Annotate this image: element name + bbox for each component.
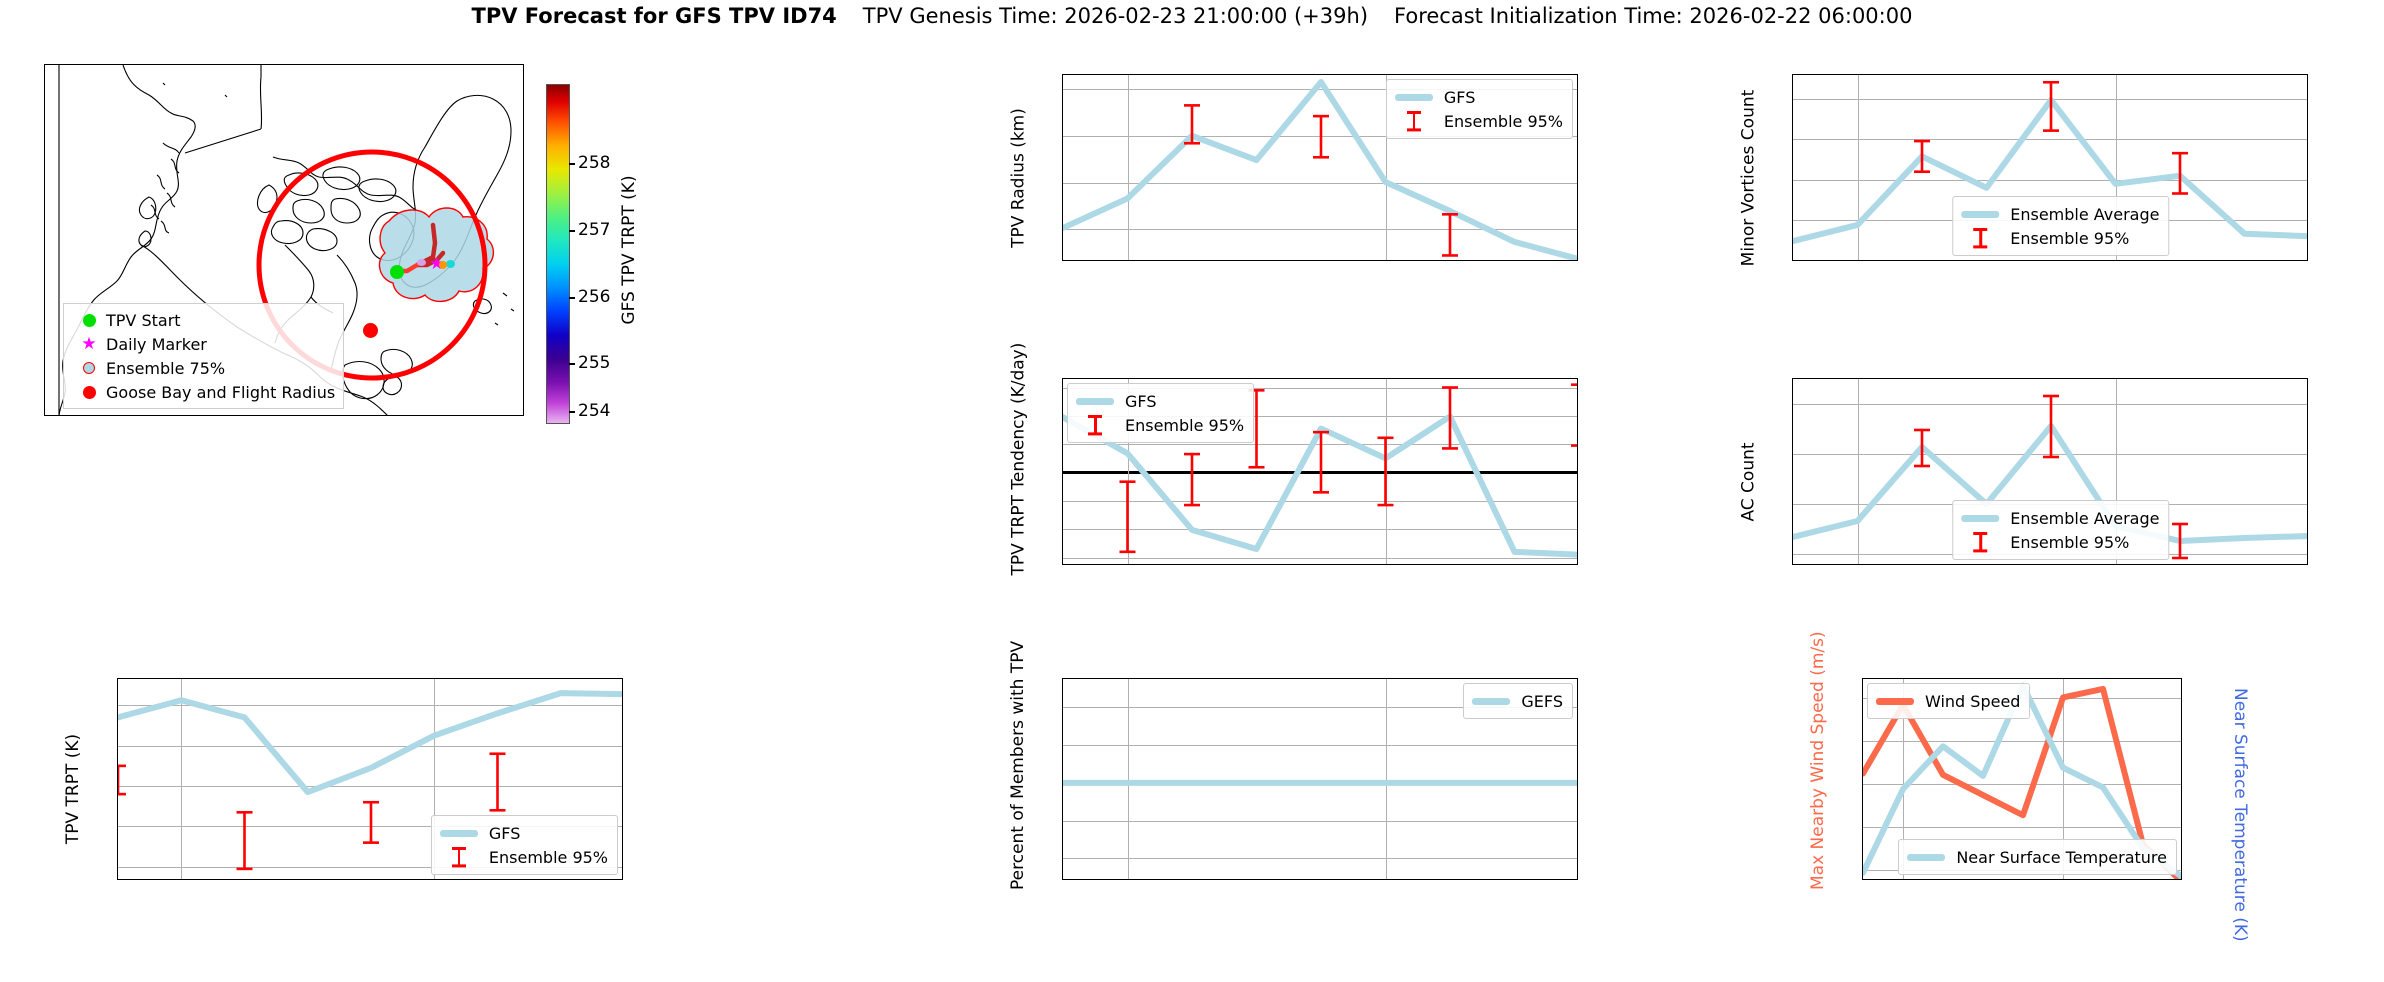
y-tick-label-right: 255 <box>2181 694 2182 714</box>
y-tickmark-right <box>2181 802 2182 804</box>
star-magenta-icon: ★ <box>72 336 106 353</box>
map-legend-label: Daily Marker <box>106 335 207 354</box>
plot-area[interactable]: 0.511.5202-23 21Z02-24 21ZEnsemble Avera… <box>1792 378 2308 565</box>
legend-item: Ensemble 95% <box>1960 226 2159 250</box>
legend-label: GFS <box>1125 392 1156 411</box>
marker-orange <box>439 261 447 269</box>
chart-legend[interactable]: Ensemble AverageEnsemble 95% <box>1952 500 2169 560</box>
chart-wind-temp: 151617181925025125225325425502-23 21Z02-… <box>1790 668 2260 928</box>
plot-area[interactable]: 00.511.5202-23 21Z02-24 21ZEnsemble Aver… <box>1792 74 2308 261</box>
legend-line-icon <box>1960 515 2000 522</box>
map-panel: ★ TPV Start ★ Daily Marker Ensemble 75% <box>44 64 524 416</box>
circle-open-lightblue-icon <box>72 362 106 374</box>
legend-item: GFS <box>1394 85 1563 109</box>
error-bar <box>1120 482 1136 552</box>
y-axis-label: TPV TRPT (K) <box>63 688 83 890</box>
y-tickmark-right <box>2181 868 2182 870</box>
legend-label: Ensemble 95% <box>2010 533 2129 552</box>
map-frame[interactable]: ★ TPV Start ★ Daily Marker Ensemble 75% <box>44 64 524 416</box>
error-bar <box>2043 396 2059 457</box>
error-bar <box>1571 385 1578 446</box>
legend-errorbar-icon <box>1075 415 1115 435</box>
error-bar <box>363 802 379 842</box>
legend-label: Ensemble 95% <box>1125 416 1244 435</box>
marker-goose-bay <box>363 323 378 338</box>
legend-item: Ensemble 95% <box>1075 413 1244 437</box>
chart-tpv-trpt-tendency: -6-4-2024602-23 21Z02-24 21ZGFSEnsemble … <box>1000 368 1590 613</box>
legend-line-icon <box>1960 211 2000 218</box>
chart-legend[interactable]: GFSEnsemble 95% <box>1067 383 1254 443</box>
chart-legend[interactable]: GEFS <box>1463 683 1573 719</box>
legend-line-icon <box>1875 698 1915 705</box>
error-bar <box>1184 454 1200 505</box>
map-legend-item-goose-bay: Goose Bay and Flight Radius <box>72 380 335 404</box>
map-legend-item-daily-marker: ★ Daily Marker <box>72 332 335 356</box>
colorbar-tick-256: 256 <box>569 287 610 307</box>
colorbar-tick-258: 258 <box>569 153 610 173</box>
y-axis-label: Minor Vortices Count <box>1738 84 1758 271</box>
series-line <box>118 693 623 792</box>
page-title: TPV Forecast for GFS TPV ID74TPV Genesis… <box>0 4 2384 28</box>
colorbar-label: GFS TPV TRPT (K) <box>619 170 639 330</box>
y-tick-label-right: 250 <box>2181 858 2182 878</box>
map-legend-item-tpv-start: TPV Start <box>72 308 335 332</box>
legend-label: Ensemble 95% <box>2010 229 2129 248</box>
plot-area[interactable]: 50060070080002-23 21Z02-24 21ZGFSEnsembl… <box>1062 74 1578 261</box>
circle-green-icon <box>72 314 106 327</box>
colorbar-tick-257: 257 <box>569 220 610 240</box>
marker-cyan <box>446 260 455 268</box>
legend-label: Near Surface Temperature <box>1956 848 2167 867</box>
legend-line-icon <box>1075 398 1115 405</box>
title-init-time: Forecast Initialization Time: 2026-02-22… <box>1394 4 1912 28</box>
title-genesis-time: TPV Genesis Time: 2026-02-23 21:00:00 (+… <box>863 4 1368 28</box>
plot-area[interactable]: -6-4-2024602-23 21Z02-24 21ZGFSEnsemble … <box>1062 378 1578 565</box>
legend-label: Ensemble Average <box>2010 205 2159 224</box>
legend-label: GFS <box>489 824 520 843</box>
plot-area[interactable]: 25025225425625802-23 21Z02-24 21ZGFSEnse… <box>117 678 623 880</box>
chart-minor-vortices-count: 00.511.5202-23 21Z02-24 21ZEnsemble Aver… <box>1730 64 2320 309</box>
colorbar-tick-254: 254 <box>569 401 610 421</box>
legend-line-icon <box>1394 94 1434 101</box>
y-axis-label: AC Count <box>1738 388 1758 575</box>
legend-errorbar-icon <box>1960 228 2000 248</box>
y-axis-label: Max Nearby Wind Speed (m/s) <box>1808 688 1828 890</box>
legend-item: GEFS <box>1471 689 1563 713</box>
legend-item: Ensemble Average <box>1960 506 2159 530</box>
legend-errorbar-icon <box>439 847 479 867</box>
legend-line-icon <box>1471 698 1511 705</box>
y-axis-label: Percent of Members with TPV <box>1008 688 1028 890</box>
chart-legend[interactable]: GFSEnsemble 95% <box>431 815 618 875</box>
legend-line-icon <box>439 830 479 837</box>
chart-legend-wind[interactable]: Wind Speed <box>1867 683 2030 719</box>
y-axis-label: TPV TRPT Tendency (K/day) <box>1008 388 1028 575</box>
map-legend: TPV Start ★ Daily Marker Ensemble 75% Go… <box>63 303 344 409</box>
map-legend-item-ensemble-75: Ensemble 75% <box>72 356 335 380</box>
error-bar <box>1442 214 1458 255</box>
legend-label: GFS <box>1444 88 1475 107</box>
chart-tpv-radius: 50060070080002-23 21Z02-24 21ZGFSEnsembl… <box>1000 64 1590 309</box>
circle-red-icon <box>72 386 106 399</box>
gridline-horizontal <box>1793 260 2307 261</box>
y-tickmark-right <box>2181 769 2182 771</box>
plot-area[interactable]: 969810010210402-23 21Z02-24 21ZGEFS <box>1062 678 1578 880</box>
error-bar <box>237 812 253 869</box>
legend-item: Ensemble 95% <box>1960 530 2159 554</box>
y-tickmark-right <box>2181 704 2182 706</box>
chart-legend-temp[interactable]: Near Surface Temperature <box>1898 839 2177 875</box>
error-bar <box>490 754 506 811</box>
legend-line-icon <box>1906 854 1946 861</box>
chart-tpv-trpt: 25025225425625802-23 21Z02-24 21ZGFSEnse… <box>55 668 635 928</box>
error-bar <box>1378 438 1394 505</box>
map-legend-label: Ensemble 75% <box>106 359 225 378</box>
y-tick-label-right: 254 <box>2181 726 2182 746</box>
y-tickmark-right <box>2181 835 2182 837</box>
y-tick-label-right: 251 <box>2181 825 2182 845</box>
y-tick-label-right: 252 <box>2181 792 2182 812</box>
map-legend-label: Goose Bay and Flight Radius <box>106 383 335 402</box>
y-tick-label-right: 253 <box>2181 759 2182 779</box>
legend-item: Wind Speed <box>1875 689 2020 713</box>
legend-label: Wind Speed <box>1925 692 2020 711</box>
map-legend-label: TPV Start <box>106 311 181 330</box>
marker-tpv-start <box>390 265 404 279</box>
legend-item: Ensemble 95% <box>439 845 608 869</box>
colorbar-tick-255: 255 <box>569 353 610 373</box>
error-bar <box>117 766 126 794</box>
legend-errorbar-icon <box>1960 532 2000 552</box>
legend-label: Ensemble 95% <box>1444 112 1563 131</box>
error-bar <box>2172 153 2188 193</box>
chart-percent-members: 969810010210402-23 21Z02-24 21ZGEFSPerce… <box>1000 668 1590 928</box>
legend-item: Ensemble 95% <box>1394 109 1563 133</box>
chart-legend[interactable]: GFSEnsemble 95% <box>1386 79 1573 139</box>
legend-label: Ensemble Average <box>2010 509 2159 528</box>
chart-legend[interactable]: Ensemble AverageEnsemble 95% <box>1952 196 2169 256</box>
legend-errorbar-icon <box>1394 111 1434 131</box>
y-axis-label: TPV Radius (km) <box>1008 84 1028 271</box>
legend-label: GEFS <box>1521 692 1563 711</box>
chart-ac-count: 0.511.5202-23 21Z02-24 21ZEnsemble Avera… <box>1730 368 2320 613</box>
y-tickmark <box>1792 260 1793 261</box>
title-main: TPV Forecast for GFS TPV ID74 <box>472 4 837 28</box>
y-axis-label-right: Near Surface Temperature (K) <box>2230 688 2250 890</box>
legend-item: GFS <box>1075 389 1244 413</box>
legend-label: Ensemble 95% <box>489 848 608 867</box>
plot-area[interactable]: 151617181925025125225325425502-23 21Z02-… <box>1862 678 2182 880</box>
legend-item: GFS <box>439 821 608 845</box>
colorbar: 258 257 256 255 254 GFS TPV TRPT (K) <box>546 84 570 424</box>
error-bar <box>1313 116 1329 157</box>
y-tickmark-right <box>2181 736 2182 738</box>
marker-violet <box>417 259 426 266</box>
legend-item: Ensemble Average <box>1960 202 2159 226</box>
legend-item: Near Surface Temperature <box>1906 845 2167 869</box>
colorbar-gradient <box>547 85 569 423</box>
